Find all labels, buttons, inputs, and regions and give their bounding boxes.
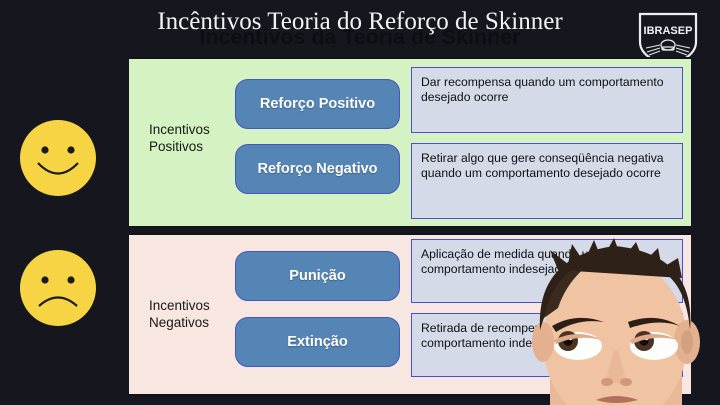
pill-reforco-positivo[interactable]: Reforço Positivo — [235, 79, 400, 129]
description-reforco-positivo: Dar recompensa quando um comportamento d… — [411, 67, 683, 133]
panel-positive-incentives: Incentivos Positivos Reforço Positivo Re… — [129, 57, 691, 228]
pill-label: Reforço Negativo — [257, 161, 377, 177]
group-label-positive: Incentivos Positivos — [149, 121, 210, 155]
slide-canvas: Incentivos da Teoria de Skinner Incêntiv… — [0, 0, 720, 405]
happy-face-icon — [18, 118, 98, 203]
pill-reforco-negativo[interactable]: Reforço Negativo — [235, 144, 400, 194]
pill-punicao[interactable]: Punição — [235, 251, 400, 301]
group-label-negative: Incentivos Negativos — [149, 297, 210, 331]
pill-label: Extinção — [287, 334, 347, 350]
pill-label: Punição — [289, 268, 345, 284]
pill-label: Reforço Positivo — [260, 96, 375, 112]
sad-face-icon — [18, 248, 98, 333]
page-title: Incêntivos Teoria do Reforço de Skinner — [0, 8, 720, 36]
logo-text: IBRASEP — [644, 25, 693, 37]
description-reforco-negativo: Retirar algo que gere conseqüência negat… — [411, 143, 683, 219]
presenter-photo — [510, 222, 720, 405]
pill-extincao[interactable]: Extinção — [235, 317, 400, 367]
